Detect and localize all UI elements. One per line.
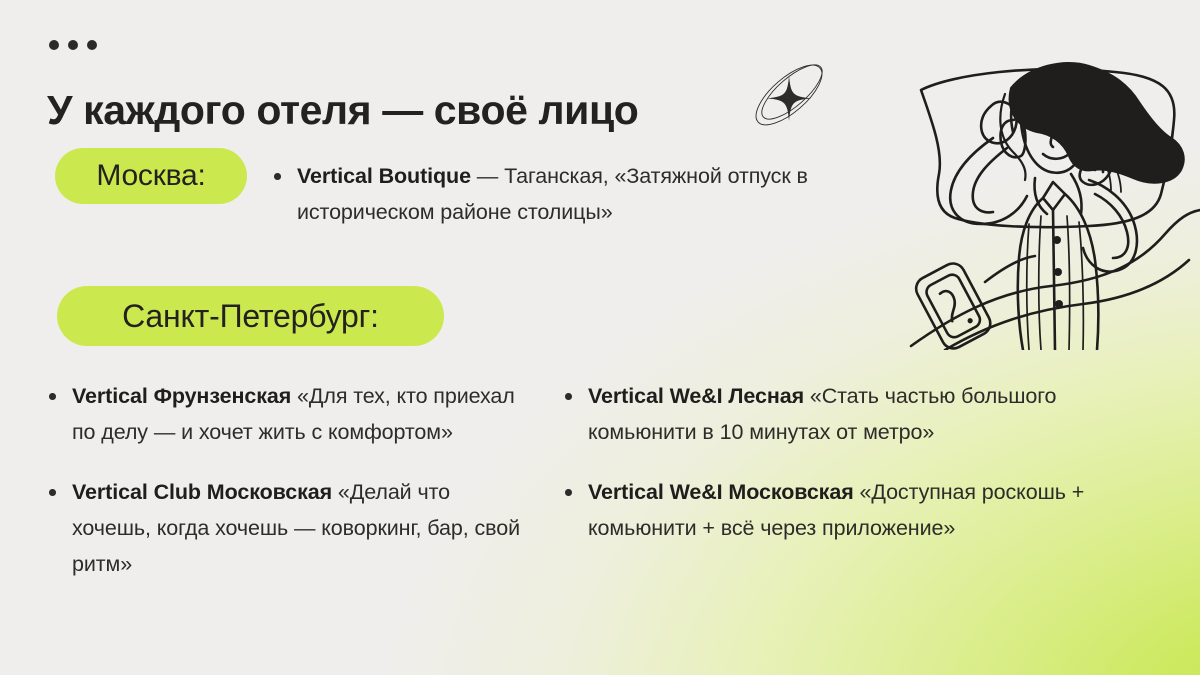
dot-icon xyxy=(49,40,59,50)
moscow-bullet-list: Vertical Boutique — Таганская, «Затяжной… xyxy=(272,158,912,230)
list-item: Vertical Club Московская «Делай что хоче… xyxy=(47,474,527,582)
three-dots-decoration xyxy=(49,40,97,50)
dot-icon xyxy=(87,40,97,50)
dot-icon xyxy=(68,40,78,50)
pill-saint-petersburg: Санкт-Петербург: xyxy=(57,286,444,346)
hotel-name: Vertical We&I Лесная xyxy=(588,384,804,408)
pill-moscow: Москва: xyxy=(55,148,247,204)
list-item: Vertical Boutique — Таганская, «Затяжной… xyxy=(272,158,912,230)
hotel-name: Vertical Club Московская xyxy=(72,480,332,504)
hotel-name: Vertical Boutique xyxy=(297,164,471,188)
hotel-name: Vertical We&I Московская xyxy=(588,480,854,504)
list-item: Vertical We&I Московская «Доступная роск… xyxy=(563,474,1123,546)
slide-canvas: У каждого отеля — своё лицо Москва: Vert… xyxy=(0,0,1200,675)
woman-in-bed-with-headphones-illustration xyxy=(893,28,1200,350)
spb-bullet-list-left: Vertical Фрунзенская «Для тех, кто приех… xyxy=(47,378,527,582)
list-item: Vertical Фрунзенская «Для тех, кто приех… xyxy=(47,378,527,450)
page-title: У каждого отеля — своё лицо xyxy=(47,87,638,134)
list-item: Vertical We&I Лесная «Стать частью больш… xyxy=(563,378,1123,450)
sparkle-orbit-icon xyxy=(737,45,841,149)
pill-moscow-label: Москва: xyxy=(96,159,205,193)
spb-bullet-list-right: Vertical We&I Лесная «Стать частью больш… xyxy=(563,378,1123,546)
hotel-name: Vertical Фрунзенская xyxy=(72,384,291,408)
pill-saint-petersburg-label: Санкт-Петербург: xyxy=(122,298,379,335)
